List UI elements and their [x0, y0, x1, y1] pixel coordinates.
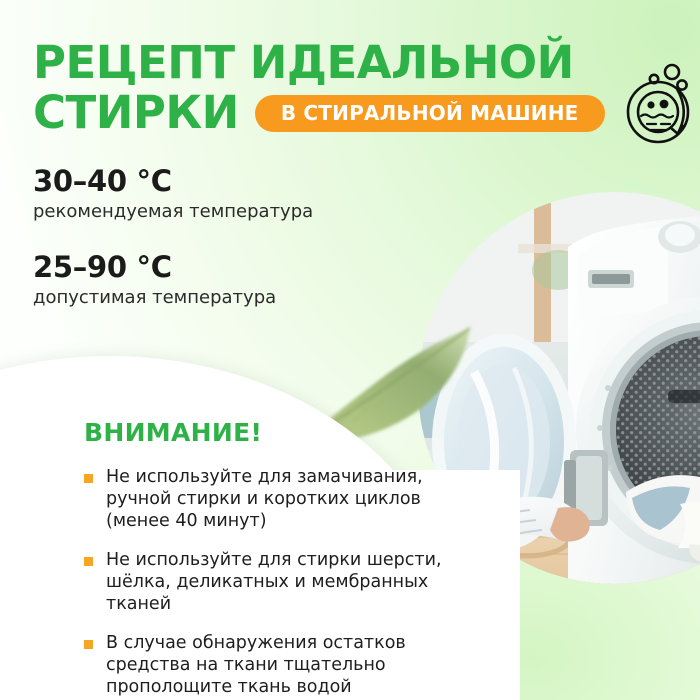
page-title: Рецепт идеальной стирки в стиральной маш… — [33, 38, 633, 138]
temperature-item-allowed: 25–90 °C допустимая температура — [33, 250, 433, 310]
washing-drum-bubbles-icon — [620, 56, 698, 146]
infographic-poster: Рецепт идеальной стирки в стиральной маш… — [0, 0, 700, 700]
title-line-2-row: стирки в стиральной машине — [33, 88, 633, 138]
title-line-1: Рецепт идеальной — [33, 38, 633, 88]
bullet-text: В случае обнаружения остатков средства н… — [106, 632, 444, 698]
temperature-item-recommended: 30–40 °C рекомендуемая температура — [33, 164, 433, 224]
bullet-text: Не используйте для стирки шерсти, шёлка,… — [106, 549, 444, 615]
bullet-square-icon — [84, 640, 93, 649]
temperature-list: 30–40 °C рекомендуемая температура 25–90… — [33, 164, 433, 336]
attention-section: Внимание! Не используйте для замачивания… — [84, 418, 444, 700]
temperature-label: рекомендуемая температура — [33, 200, 433, 224]
list-item: В случае обнаружения остатков средства н… — [84, 632, 444, 698]
list-item: Не используйте для стирки шерсти, шёлка,… — [84, 549, 444, 615]
temperature-value: 25–90 °C — [33, 250, 433, 284]
subtitle-badge: в стиральной машине — [255, 95, 605, 132]
attention-title: Внимание! — [84, 418, 444, 448]
temperature-value: 30–40 °C — [33, 164, 433, 198]
bullet-square-icon — [84, 474, 93, 483]
temperature-label: допустимая температура — [33, 286, 433, 310]
attention-bullet-list: Не используйте для замачивания, ручной с… — [84, 466, 444, 698]
title-line-2: стирки — [33, 88, 239, 138]
bullet-text: Не используйте для замачивания, ручной с… — [106, 466, 444, 532]
bullet-square-icon — [84, 557, 93, 566]
list-item: Не используйте для замачивания, ручной с… — [84, 466, 444, 532]
